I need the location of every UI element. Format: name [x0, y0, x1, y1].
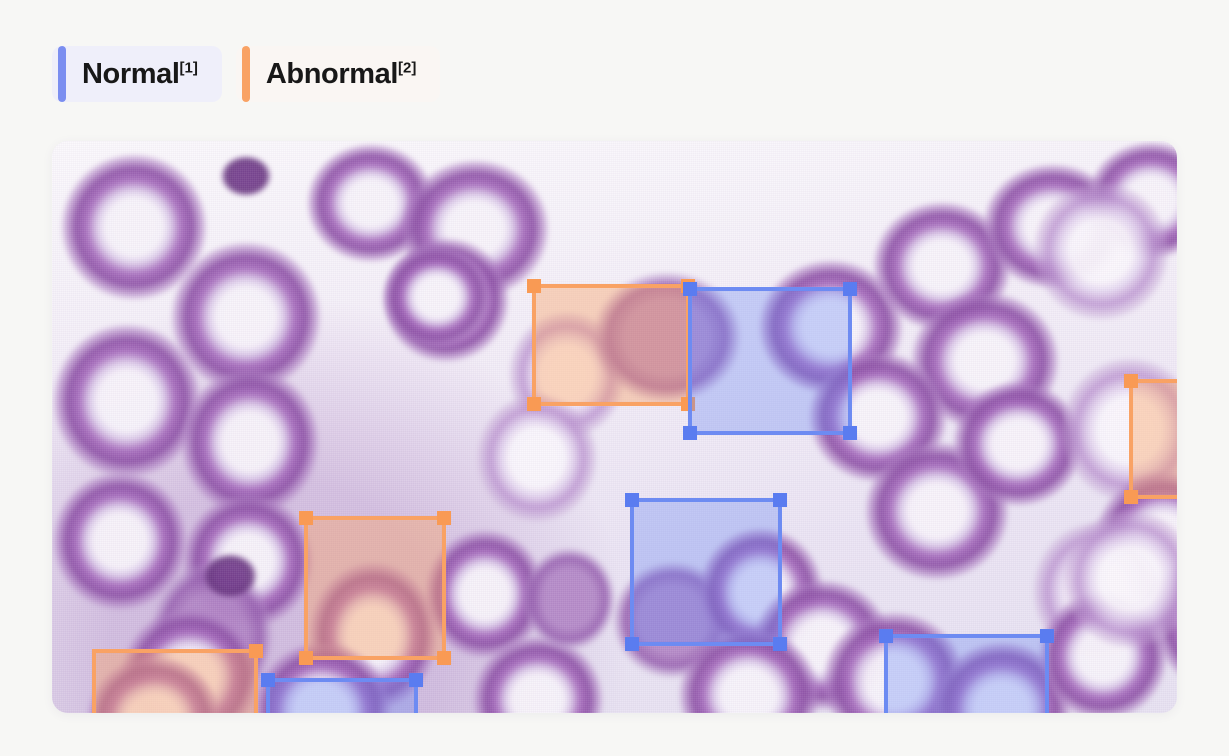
resize-handle-br[interactable]	[437, 651, 451, 665]
bounding-box-abnormal[interactable]	[304, 516, 446, 660]
resize-handle-tl[interactable]	[625, 493, 639, 507]
resize-handle-tl[interactable]	[299, 511, 313, 525]
resize-handle-tr[interactable]	[409, 673, 423, 687]
legend-label-abnormal-text: Abnormal	[266, 58, 398, 90]
resize-handle-tr[interactable]	[437, 511, 451, 525]
resize-handle-tr[interactable]	[773, 493, 787, 507]
resize-handle-br[interactable]	[773, 637, 787, 651]
resize-handle-tl[interactable]	[527, 279, 541, 293]
resize-handle-bl[interactable]	[527, 397, 541, 411]
bounding-box-normal[interactable]	[884, 634, 1049, 713]
blood-cell	[52, 323, 202, 479]
legend-label-normal: Normal[1]	[82, 60, 198, 89]
blood-cell	[202, 553, 258, 599]
blood-cell	[220, 155, 272, 197]
blood-cell	[382, 245, 492, 349]
resize-handle-bl[interactable]	[683, 426, 697, 440]
resize-handle-tl[interactable]	[683, 282, 697, 296]
bounding-box-abnormal[interactable]	[532, 284, 690, 406]
resize-handle-tr[interactable]	[249, 644, 263, 658]
bounding-box-normal[interactable]	[630, 498, 782, 646]
bounding-box-abnormal[interactable]	[92, 649, 258, 713]
legend-label-normal-superscript: [1]	[180, 59, 198, 76]
annotated-image-frame[interactable]	[52, 141, 1177, 713]
resize-handle-br[interactable]	[843, 426, 857, 440]
resize-handle-bl[interactable]	[625, 637, 639, 651]
blood-cell	[1032, 181, 1170, 321]
page-root: Normal[1] Abnormal[2]	[0, 0, 1229, 756]
blood-cell	[476, 393, 598, 523]
resize-handle-tl[interactable]	[879, 629, 893, 643]
legend-color-swatch-abnormal	[242, 46, 250, 102]
resize-handle-tl[interactable]	[1124, 374, 1138, 388]
class-legend: Normal[1] Abnormal[2]	[52, 46, 440, 102]
bounding-box-abnormal[interactable]	[1129, 379, 1177, 499]
resize-handle-bl[interactable]	[1124, 490, 1138, 504]
resize-handle-tr[interactable]	[843, 282, 857, 296]
resize-handle-tr[interactable]	[1040, 629, 1054, 643]
legend-chip-normal[interactable]: Normal[1]	[52, 46, 222, 102]
legend-label-abnormal: Abnormal[2]	[266, 60, 417, 89]
legend-label-abnormal-superscript: [2]	[398, 59, 416, 76]
resize-handle-tl[interactable]	[261, 673, 275, 687]
legend-color-swatch-normal	[58, 46, 66, 102]
bounding-box-normal[interactable]	[688, 287, 852, 435]
blood-smear-image	[52, 141, 1177, 713]
resize-handle-bl[interactable]	[299, 651, 313, 665]
legend-chip-abnormal[interactable]: Abnormal[2]	[236, 46, 441, 102]
legend-label-normal-text: Normal	[82, 58, 180, 90]
bounding-box-normal[interactable]	[266, 678, 418, 713]
blood-cell	[522, 547, 616, 651]
